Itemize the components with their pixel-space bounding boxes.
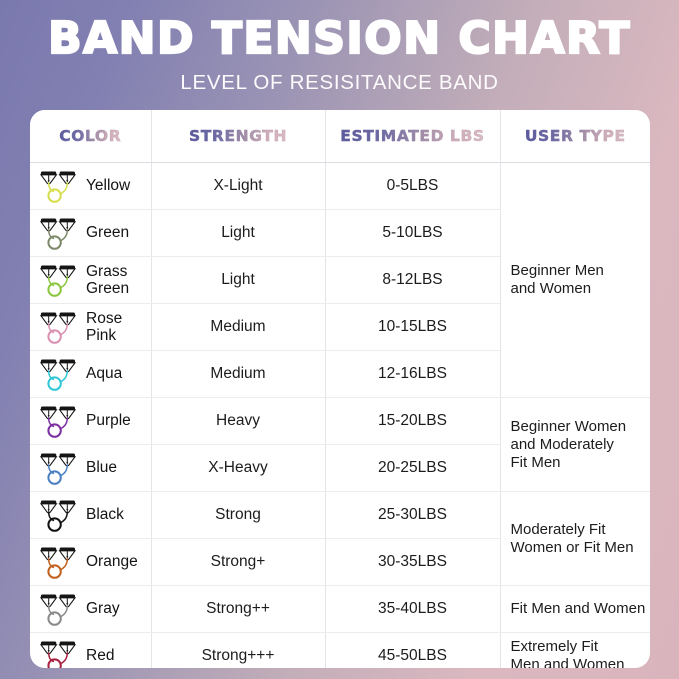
color-label: Orange: [86, 553, 138, 570]
resistance-band-icon: [39, 589, 79, 629]
cell-strength: Strong+++: [151, 633, 325, 669]
cell-strength: Light: [151, 257, 325, 304]
cell-strength: Strong++: [151, 586, 325, 633]
color-label: Green: [86, 224, 129, 241]
cell-color: Red: [30, 633, 151, 669]
color-label: Gray: [86, 600, 120, 617]
table-row: GrayStrong++35-40LBSFit Men and Women: [30, 586, 650, 633]
color-label: Purple: [86, 412, 131, 429]
table-row: RedStrong+++45-50LBSExtremely FitMen and…: [30, 633, 650, 669]
cell-color: Gray: [30, 586, 151, 633]
cell-color: Orange: [30, 539, 151, 586]
cell-strength: X-Light: [151, 163, 325, 210]
cell-estimated-lbs: 35-40LBS: [325, 586, 500, 633]
color-label: Yellow: [86, 177, 130, 194]
cell-strength: X-Heavy: [151, 445, 325, 492]
cell-user-type: Fit Men and Women: [500, 586, 650, 633]
resistance-band-icon: [39, 260, 79, 300]
cell-user-type: Beginner Womenand ModeratelyFit Men: [500, 398, 650, 492]
cell-color: RosePink: [30, 304, 151, 351]
resistance-band-icon: [39, 542, 79, 582]
table-row: PurpleHeavy15-20LBSBeginner Womenand Mod…: [30, 398, 650, 445]
cell-estimated-lbs: 0-5LBS: [325, 163, 500, 210]
column-header-color: COLOR: [30, 110, 151, 163]
table-row: BlackStrong25-30LBSModerately FitWomen o…: [30, 492, 650, 539]
color-label: RosePink: [86, 310, 122, 345]
color-label: Red: [86, 647, 114, 664]
cell-strength: Medium: [151, 351, 325, 398]
page-header: BAND TENSION CHART LEVEL OF RESISITANCE …: [0, 0, 679, 95]
cell-strength: Medium: [151, 304, 325, 351]
color-label: Blue: [86, 459, 117, 476]
cell-strength: Strong+: [151, 539, 325, 586]
table-body: YellowX-Light0-5LBSBeginner Menand Women…: [30, 163, 650, 669]
cell-estimated-lbs: 20-25LBS: [325, 445, 500, 492]
cell-user-type: Beginner Menand Women: [500, 163, 650, 398]
page-subtitle: LEVEL OF RESISITANCE BAND: [0, 71, 679, 95]
cell-user-type: Extremely FitMen and Women: [500, 633, 650, 669]
cell-estimated-lbs: 30-35LBS: [325, 539, 500, 586]
cell-color: Black: [30, 492, 151, 539]
resistance-band-icon: [39, 401, 79, 441]
resistance-band-icon: [39, 307, 79, 347]
cell-color: Purple: [30, 398, 151, 445]
band-tension-chart-page: BAND TENSION CHART LEVEL OF RESISITANCE …: [0, 0, 679, 679]
column-header-strength: STRENGTH: [151, 110, 325, 163]
cell-estimated-lbs: 45-50LBS: [325, 633, 500, 669]
cell-color: Blue: [30, 445, 151, 492]
page-title: BAND TENSION CHART: [0, 16, 679, 62]
cell-estimated-lbs: 12-16LBS: [325, 351, 500, 398]
cell-strength: Strong: [151, 492, 325, 539]
cell-estimated-lbs: 5-10LBS: [325, 210, 500, 257]
cell-color: Green: [30, 210, 151, 257]
table-header: COLOR STRENGTH ESTIMATED LBS USER TYPE: [30, 110, 650, 163]
cell-color: GrassGreen: [30, 257, 151, 304]
band-tension-table: COLOR STRENGTH ESTIMATED LBS USER TYPE Y…: [30, 110, 650, 668]
cell-color: Aqua: [30, 351, 151, 398]
table-row: YellowX-Light0-5LBSBeginner Menand Women: [30, 163, 650, 210]
cell-estimated-lbs: 25-30LBS: [325, 492, 500, 539]
resistance-band-icon: [39, 354, 79, 394]
color-label: GrassGreen: [86, 263, 129, 298]
chart-card: COLOR STRENGTH ESTIMATED LBS USER TYPE Y…: [30, 110, 650, 668]
cell-user-type: Moderately FitWomen or Fit Men: [500, 492, 650, 586]
cell-estimated-lbs: 10-15LBS: [325, 304, 500, 351]
resistance-band-icon: [39, 495, 79, 535]
column-header-user-type: USER TYPE: [500, 110, 650, 163]
cell-estimated-lbs: 15-20LBS: [325, 398, 500, 445]
cell-color: Yellow: [30, 163, 151, 210]
table-header-row: COLOR STRENGTH ESTIMATED LBS USER TYPE: [30, 110, 650, 163]
resistance-band-icon: [39, 636, 79, 668]
color-label: Aqua: [86, 365, 122, 382]
resistance-band-icon: [39, 448, 79, 488]
resistance-band-icon: [39, 213, 79, 253]
resistance-band-icon: [39, 166, 79, 206]
cell-strength: Heavy: [151, 398, 325, 445]
cell-estimated-lbs: 8-12LBS: [325, 257, 500, 304]
cell-strength: Light: [151, 210, 325, 257]
color-label: Black: [86, 506, 124, 523]
column-header-estimated-lbs: ESTIMATED LBS: [325, 110, 500, 163]
